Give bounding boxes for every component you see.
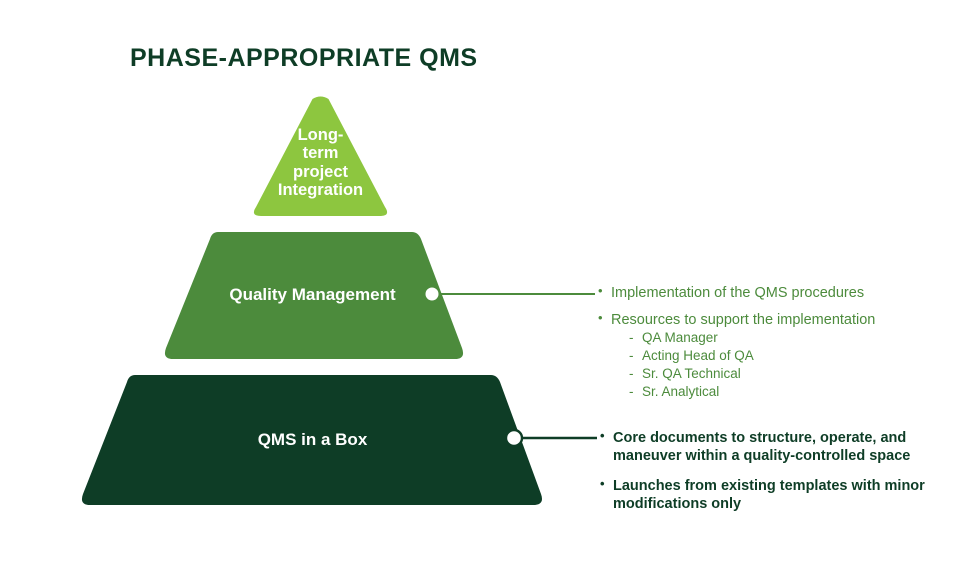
connector-node-bottom[interactable] [506, 430, 522, 446]
callout-middle-bullet-2-text: Resources to support the implementation [611, 312, 875, 328]
callout-bottom-bullet-2-text: Launches from existing templates with mi… [613, 478, 925, 512]
callout-middle-sublist: QA Manager Acting Head of QA Sr. QA Tech… [629, 329, 938, 401]
callout-middle: Implementation of the QMS procedures Res… [598, 284, 938, 410]
tier-middle-shape[interactable] [165, 232, 463, 359]
callout-middle-subitem-2: Acting Head of QA [629, 347, 938, 365]
callout-middle-bullet-2: Resources to support the implementation … [598, 311, 938, 401]
tier-bottom-shape[interactable] [82, 375, 542, 505]
callout-middle-bullet-1-text: Implementation of the QMS procedures [611, 285, 864, 301]
callout-middle-subitem-3: Sr. QA Technical [629, 365, 938, 383]
connector-node-middle[interactable] [425, 287, 440, 302]
callout-middle-subitem-1: QA Manager [629, 329, 938, 347]
callout-bottom: Core documents to structure, operate, an… [600, 429, 930, 526]
callout-bottom-bullet-1: Core documents to structure, operate, an… [600, 429, 930, 465]
tier-top-shape[interactable] [254, 97, 387, 217]
callout-bottom-bullet-1-text: Core documents to structure, operate, an… [613, 430, 910, 464]
callout-bottom-list: Core documents to structure, operate, an… [600, 429, 930, 514]
callout-middle-subitem-4: Sr. Analytical [629, 383, 938, 401]
diagram-canvas: PHASE-APPROPRIATE QMS Long- term project… [0, 0, 975, 576]
callout-bottom-bullet-2: Launches from existing templates with mi… [600, 477, 930, 513]
callout-middle-list: Implementation of the QMS procedures Res… [598, 284, 938, 401]
callout-middle-bullet-1: Implementation of the QMS procedures [598, 284, 938, 302]
